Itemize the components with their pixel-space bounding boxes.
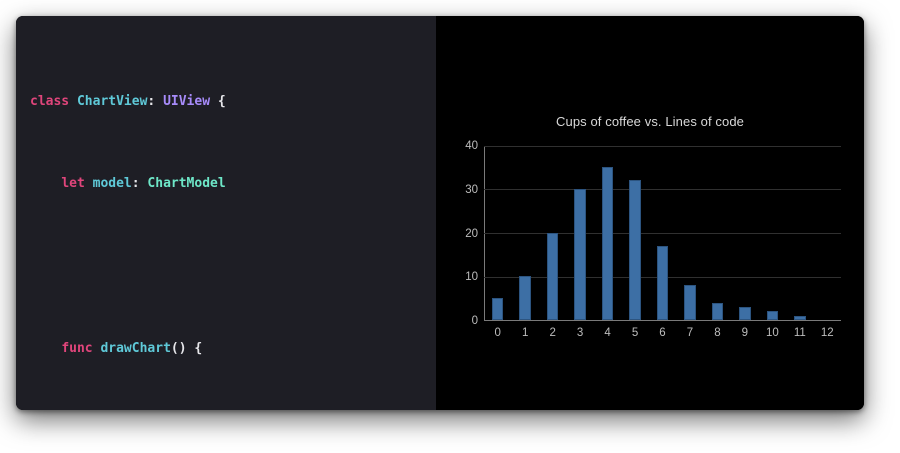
- code-token-type: ChartView: [77, 94, 147, 109]
- y-tick-label: 0: [444, 315, 478, 327]
- code-token-type: model: [93, 176, 132, 191]
- chart-bar: [629, 180, 641, 320]
- x-tick-label: 12: [821, 327, 834, 339]
- chart-preview-pane: Cups of coffee vs. Lines of code 0102030…: [436, 16, 864, 410]
- chart-bar: [574, 189, 586, 320]
- y-tick-label: 30: [444, 184, 478, 196]
- chart-gridline: [484, 233, 841, 234]
- y-axis-tick-labels: 010203040: [438, 146, 478, 321]
- code-editor-pane[interactable]: class ChartView: UIView { let model: Cha…: [16, 16, 436, 410]
- code-line-4: func drawChart() {: [30, 339, 436, 360]
- chart-bar: [547, 233, 559, 321]
- app-window-panel: class ChartView: UIView { let model: Cha…: [16, 16, 864, 410]
- x-tick-label: 7: [687, 327, 693, 339]
- x-tick-label: 11: [794, 327, 806, 339]
- y-tick-label: 10: [444, 271, 478, 283]
- code-line-3-blank: [30, 257, 436, 278]
- code-token-class: UIView: [163, 94, 210, 109]
- chart-gridline: [484, 146, 841, 147]
- chart-bar: [492, 298, 504, 320]
- x-axis-tick-labels: 0123456789101112: [484, 324, 841, 344]
- code-token-punct: :: [147, 94, 155, 109]
- chart-bar: [519, 276, 531, 320]
- code-token-parens: (): [171, 341, 187, 356]
- chart-bar: [767, 311, 779, 320]
- chart-gridline: [484, 189, 841, 190]
- x-tick-label: 2: [549, 327, 555, 339]
- code-token-brace: {: [218, 94, 226, 109]
- code-token-keyword: class: [30, 94, 69, 109]
- code-token-punct: :: [132, 176, 140, 191]
- code-token-function: drawChart: [100, 341, 170, 356]
- chart-title: Cups of coffee vs. Lines of code: [436, 114, 864, 129]
- x-tick-label: 1: [522, 327, 528, 339]
- x-tick-label: 0: [495, 327, 501, 339]
- code-listing[interactable]: class ChartView: UIView { let model: Cha…: [30, 30, 436, 410]
- chart-bar: [712, 303, 724, 321]
- chart-bar: [602, 167, 614, 320]
- y-tick-label: 20: [444, 228, 478, 240]
- y-tick-label: 40: [444, 140, 478, 152]
- chart-bar: [684, 285, 696, 320]
- x-axis-line: [484, 320, 841, 321]
- chart-bar: [657, 246, 669, 320]
- chart-bar: [794, 316, 806, 320]
- x-tick-label: 5: [632, 327, 638, 339]
- code-token-struct: ChartModel: [147, 176, 225, 191]
- chart-bar: [739, 307, 751, 320]
- x-tick-label: 4: [604, 327, 610, 339]
- x-tick-label: 3: [577, 327, 583, 339]
- screenshot-stage: class ChartView: UIView { let model: Cha…: [0, 0, 900, 453]
- x-tick-label: 10: [766, 327, 779, 339]
- code-token-keyword: let: [61, 176, 84, 191]
- code-token-brace: {: [194, 341, 202, 356]
- chart-plot-area: [484, 146, 841, 321]
- code-token-keyword: func: [61, 341, 92, 356]
- x-tick-label: 9: [742, 327, 748, 339]
- x-tick-label: 6: [659, 327, 665, 339]
- code-line-2: let model: ChartModel: [30, 174, 436, 195]
- code-line-1: class ChartView: UIView {: [30, 92, 436, 113]
- x-tick-label: 8: [714, 327, 720, 339]
